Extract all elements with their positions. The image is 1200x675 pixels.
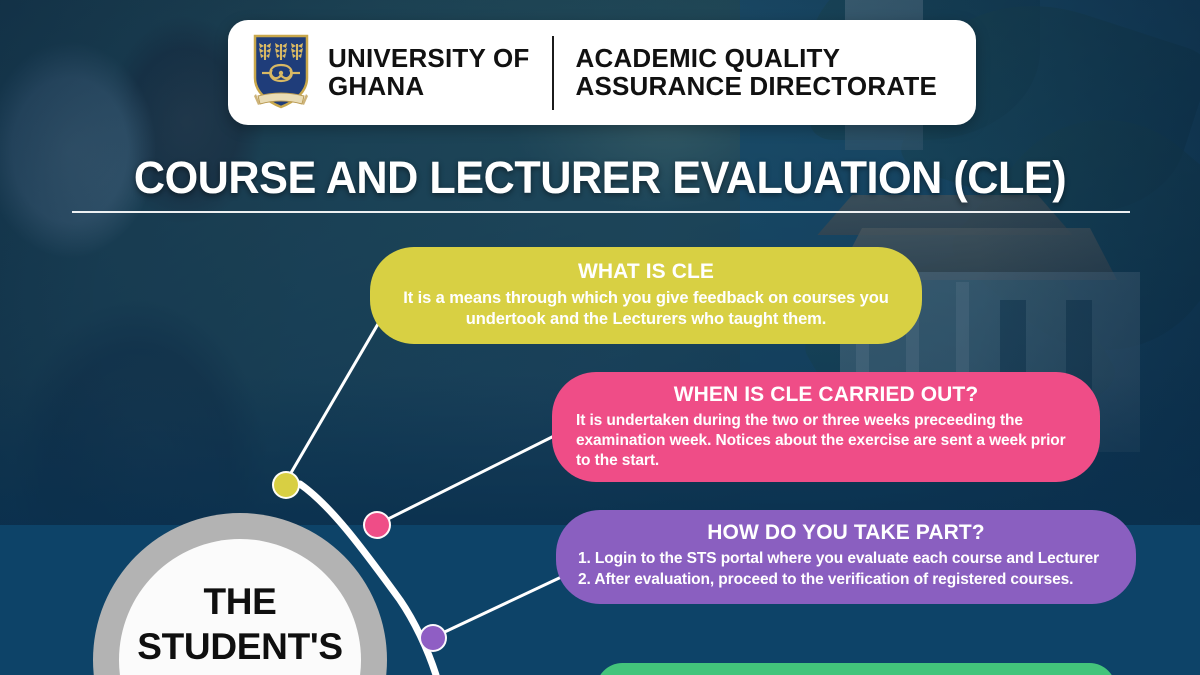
step-1-sts-portal: STS [687, 550, 717, 567]
card-how-benefit[interactable]: HOW DO YOU BENEFIT? [596, 663, 1116, 675]
card-body-when-is-cle: It is undertaken during the two or three… [576, 411, 1076, 470]
card-body-what-is-cle: It is a means through which you give fee… [396, 288, 896, 330]
card-step-2: 2. After evaluation, proceed to the veri… [578, 570, 1114, 590]
node-dot-when-is-cle[interactable] [363, 511, 391, 539]
step-1-pre: 1. Login to the [578, 550, 687, 567]
hub-line-1: THE [203, 581, 276, 622]
university-name-line2: GHANA [328, 71, 424, 101]
card-heading-what-is-cle: WHAT IS CLE [396, 259, 896, 284]
university-of-ghana-crest-icon [250, 34, 312, 112]
brand-header: UNIVERSITY OF GHANA ACADEMIC QUALITY ASS… [228, 20, 976, 125]
node-dot-how-take-part[interactable] [419, 624, 447, 652]
step-1-post: portal where you evaluate each course an… [716, 550, 1099, 567]
card-heading-when-is-cle: WHEN IS CLE CARRIED OUT? [576, 382, 1076, 407]
central-hub-label: THE STUDENT'S [137, 579, 343, 669]
card-step-1: 1. Login to the STS portal where you eva… [578, 549, 1114, 569]
hub-line-2: STUDENT'S [137, 626, 343, 667]
directorate-name-line1: ACADEMIC QUALITY [576, 43, 841, 73]
title-underline [72, 211, 1130, 213]
university-name: UNIVERSITY OF GHANA [328, 45, 552, 100]
directorate-name: ACADEMIC QUALITY ASSURANCE DIRECTORATE [554, 45, 937, 100]
card-when-is-cle[interactable]: WHEN IS CLE CARRIED OUT? It is undertake… [552, 372, 1100, 482]
university-name-line1: UNIVERSITY OF [328, 43, 530, 73]
directorate-name-line2: ASSURANCE DIRECTORATE [576, 71, 937, 101]
infographic-canvas: UNIVERSITY OF GHANA ACADEMIC QUALITY ASS… [0, 0, 1200, 675]
page-title: COURSE AND LECTURER EVALUATION (CLE) [24, 152, 1176, 204]
card-what-is-cle[interactable]: WHAT IS CLE It is a means through which … [370, 247, 922, 344]
central-hub-body: THE STUDENT'S [119, 539, 361, 675]
node-dot-what-is-cle[interactable] [272, 471, 300, 499]
card-how-take-part[interactable]: HOW DO YOU TAKE PART? 1. Login to the ST… [556, 510, 1136, 604]
card-heading-how-take-part: HOW DO YOU TAKE PART? [578, 520, 1114, 545]
page-title-block: COURSE AND LECTURER EVALUATION (CLE) [0, 152, 1200, 204]
